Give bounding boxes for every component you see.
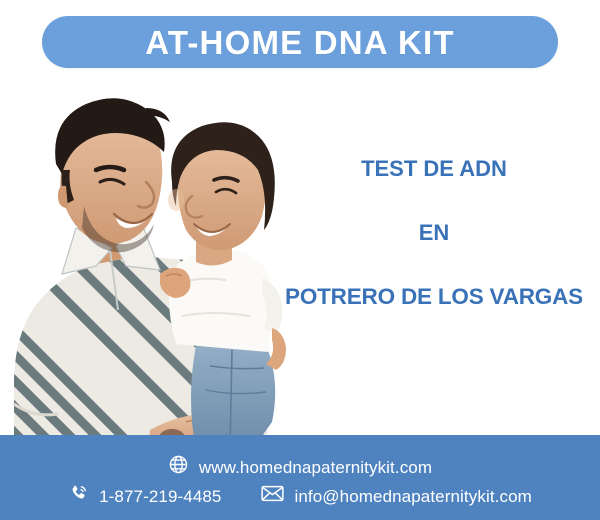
footer-row-website: www.homednapaternitykit.com — [0, 454, 600, 480]
phone-item[interactable]: 1-877-219-4485 — [68, 483, 221, 509]
family-photo-illustration — [0, 78, 300, 450]
globe-icon — [168, 454, 189, 480]
headline-line-1: TEST DE ADN — [270, 158, 598, 180]
phone-icon — [68, 483, 89, 509]
website-item[interactable]: www.homednapaternitykit.com — [168, 454, 432, 480]
envelope-icon — [261, 483, 284, 509]
page-title: AT-HOME DNA KIT — [145, 26, 454, 59]
phone-number: 1-877-219-4485 — [99, 488, 221, 505]
email-address: info@homednapaternitykit.com — [294, 488, 531, 505]
email-item[interactable]: info@homednapaternitykit.com — [261, 483, 531, 509]
footer-row-contact: 1-877-219-4485 info@homednapaternitykit.… — [0, 483, 600, 509]
headline-line-3: POTRERO DE LOS VARGAS — [270, 286, 598, 309]
poster-canvas: AT-HOME DNA KIT — [0, 0, 600, 520]
contact-footer: www.homednapaternitykit.com 1-877-219-44… — [0, 435, 600, 520]
family-photo — [0, 78, 300, 450]
title-banner: AT-HOME DNA KIT — [42, 16, 558, 68]
headline-line-2: EN — [270, 222, 598, 244]
headline-block: TEST DE ADN EN POTRERO DE LOS VARGAS — [270, 158, 598, 309]
website-url: www.homednapaternitykit.com — [199, 459, 432, 476]
